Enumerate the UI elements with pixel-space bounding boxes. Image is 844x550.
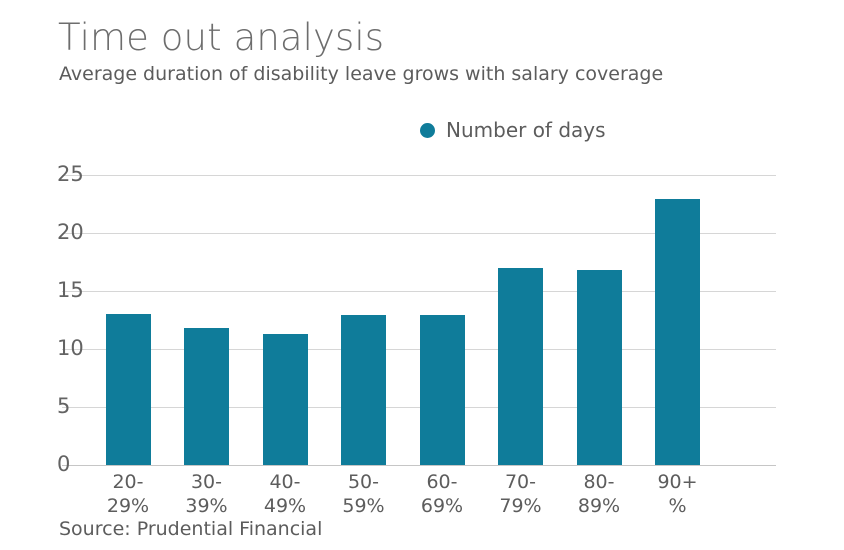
x-axis-tick-label: 20-29% [85, 470, 171, 518]
x-axis-tick-label: 30-39% [164, 470, 250, 518]
bar[interactable] [184, 328, 229, 465]
x-axis-tick-label: 50-59% [321, 470, 407, 518]
x-axis-tick-label: 70-79% [478, 470, 564, 518]
x-axis-tick-label-line2: 69% [399, 494, 485, 518]
chart-page: Time out analysis Average duration of di… [0, 0, 844, 550]
bar[interactable] [106, 314, 151, 465]
x-axis-tick-label: 80-89% [556, 470, 642, 518]
bar[interactable] [263, 334, 308, 465]
source-note: Source: Prudential Financial [59, 517, 322, 541]
x-axis-tick-label-line2: 39% [164, 494, 250, 518]
bar[interactable] [498, 268, 543, 465]
x-axis-tick-label: 90+% [635, 470, 721, 518]
x-axis-tick-label-line2: 79% [478, 494, 564, 518]
bar-series [0, 0, 844, 550]
x-axis-tick-label-line2: % [635, 494, 721, 518]
plot-area: 0510152025 20-29%30-39%40-49%50-59%60-69… [0, 0, 844, 550]
x-axis-tick-label-line2: 29% [85, 494, 171, 518]
bar[interactable] [341, 315, 386, 465]
x-axis-tick-label-line2: 59% [321, 494, 407, 518]
bar[interactable] [420, 315, 465, 465]
bar[interactable] [655, 199, 700, 465]
bar[interactable] [577, 270, 622, 465]
x-axis-tick-label-line2: 89% [556, 494, 642, 518]
x-axis-tick-label: 40-49% [242, 470, 328, 518]
x-axis-tick-label: 60-69% [399, 470, 485, 518]
x-axis-tick-label-line2: 49% [242, 494, 328, 518]
